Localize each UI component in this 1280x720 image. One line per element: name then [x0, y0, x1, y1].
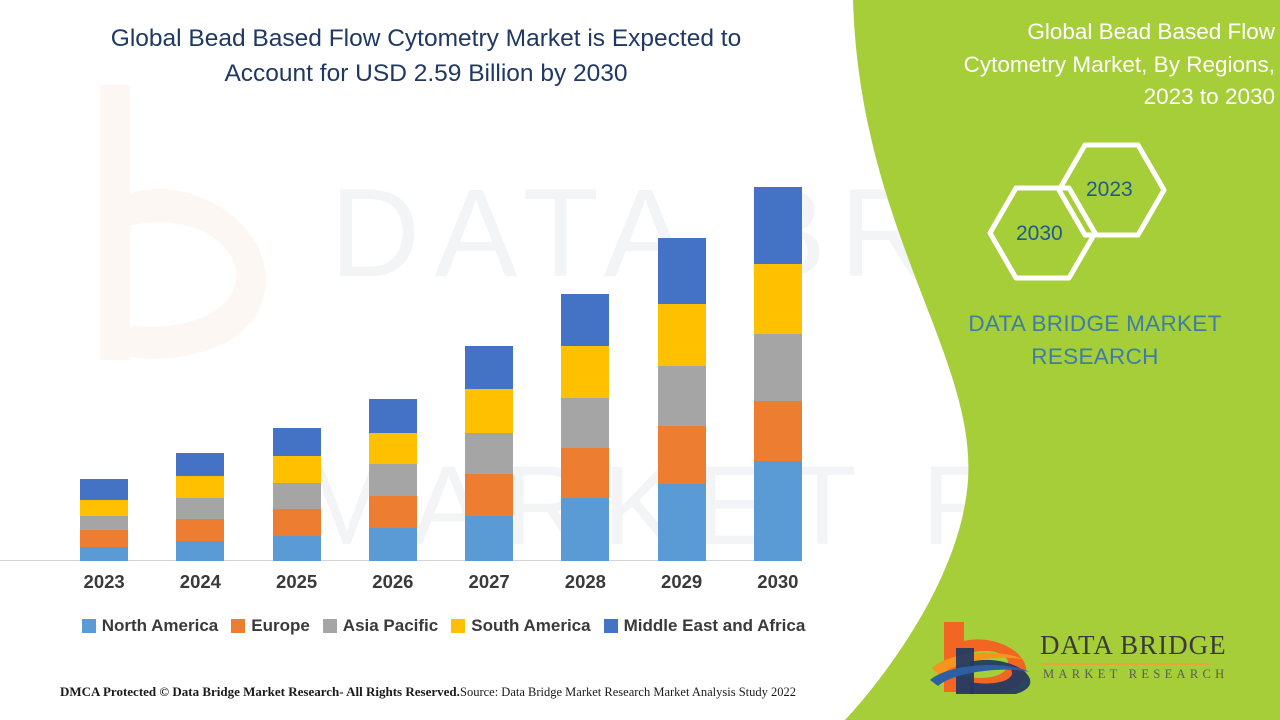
x-axis-label: 2023	[56, 571, 152, 593]
bar-segment	[658, 366, 706, 426]
bar-segment	[273, 428, 321, 456]
bar-segment	[561, 346, 609, 398]
bar-segment	[561, 294, 609, 346]
bar-segment	[80, 547, 128, 561]
bar-segment	[273, 483, 321, 509]
bar-segment	[754, 461, 802, 561]
legend-swatch-icon	[451, 619, 465, 633]
stacked-bar	[658, 238, 706, 561]
x-axis-label: 2028	[537, 571, 633, 593]
chart-x-axis-labels: 20232024202520262027202820292030	[56, 571, 826, 593]
footer-source: Source: Data Bridge Market Research Mark…	[460, 685, 796, 700]
legend-label: Asia Pacific	[343, 616, 438, 636]
stacked-bar	[273, 428, 321, 561]
footer-copyright: DMCA Protected © Data Bridge Market Rese…	[60, 684, 460, 700]
bar-segment	[754, 264, 802, 334]
legend-item[interactable]: Middle East and Africa	[604, 616, 806, 636]
bar-segment	[465, 433, 513, 474]
legend-swatch-icon	[323, 619, 337, 633]
bar-segment	[273, 509, 321, 536]
page-title: Global Bead Based Flow Cytometry Market …	[76, 22, 776, 92]
bar-segment	[80, 516, 128, 530]
stacked-bar	[465, 346, 513, 561]
company-logo: DATA BRIDGE MARKET RESEARCH	[930, 618, 1240, 696]
bar-segment	[561, 498, 609, 561]
legend-label: Europe	[251, 616, 310, 636]
x-axis-label: 2024	[152, 571, 248, 593]
legend-item[interactable]: Europe	[231, 616, 310, 636]
bar-segment	[273, 536, 321, 561]
bar-segment	[754, 334, 802, 401]
bar-segment	[465, 516, 513, 561]
bar-segment	[465, 389, 513, 433]
bar-segment	[465, 346, 513, 389]
logo-subtitle: MARKET RESEARCH	[1043, 667, 1228, 682]
bar-segment	[369, 433, 417, 464]
legend-label: North America	[102, 616, 219, 636]
stacked-bar	[561, 294, 609, 561]
bar-segment	[369, 496, 417, 528]
bar-segment	[176, 541, 224, 561]
bar-segment	[80, 479, 128, 500]
hexagon-label-2030: 2030	[1016, 222, 1063, 246]
hexagon-shapes-icon	[968, 140, 1228, 285]
bar-segment	[176, 453, 224, 476]
x-axis-label: 2026	[345, 571, 441, 593]
logo-title: DATA BRIDGE	[1040, 630, 1227, 661]
bar-column	[152, 151, 248, 561]
stacked-bar	[754, 187, 802, 561]
stacked-bar	[369, 399, 417, 561]
x-axis-label: 2029	[634, 571, 730, 593]
hexagon-group: 2023 2030	[968, 140, 1228, 285]
bar-segment	[176, 476, 224, 498]
stacked-bar	[176, 453, 224, 561]
bar-segment	[561, 448, 609, 498]
bar-segment	[658, 484, 706, 561]
legend-item[interactable]: Asia Pacific	[323, 616, 438, 636]
bar-segment	[80, 500, 128, 516]
bar-column	[345, 151, 441, 561]
legend-item[interactable]: North America	[82, 616, 219, 636]
bar-segment	[754, 401, 802, 461]
bar-column	[634, 151, 730, 561]
x-axis-label: 2025	[249, 571, 345, 593]
bar-segment	[273, 456, 321, 483]
bar-column	[249, 151, 345, 561]
logo-divider	[1041, 663, 1209, 665]
panel-title: Global Bead Based Flow Cytometry Market,…	[930, 16, 1275, 114]
legend-swatch-icon	[604, 619, 618, 633]
legend-swatch-icon	[82, 619, 96, 633]
b-logo-icon	[930, 618, 1040, 694]
stacked-bar	[80, 479, 128, 561]
x-axis-label: 2027	[441, 571, 537, 593]
bar-segment	[176, 498, 224, 519]
bar-column	[56, 151, 152, 561]
bar-segment	[369, 464, 417, 496]
bar-segment	[658, 304, 706, 366]
bar-segment	[369, 528, 417, 561]
bar-chart	[56, 150, 826, 561]
chart-legend: North AmericaEuropeAsia PacificSouth Ame…	[56, 616, 831, 636]
bar-column	[537, 151, 633, 561]
bar-segment	[658, 426, 706, 484]
bar-segment	[465, 474, 513, 516]
infographic-page: DATA BRIDGE MARKET RESEARCH Global Bead …	[0, 0, 1280, 720]
chart-plot-area	[56, 151, 826, 561]
panel-content: Global Bead Based Flow Cytometry Market,…	[930, 0, 1280, 720]
x-axis-label: 2030	[730, 571, 826, 593]
bar-column	[441, 151, 537, 561]
legend-label: Middle East and Africa	[624, 616, 806, 636]
hexagon-label-2023: 2023	[1086, 178, 1133, 202]
footer: DMCA Protected © Data Bridge Market Rese…	[0, 684, 860, 706]
bar-column	[730, 151, 826, 561]
legend-item[interactable]: South America	[451, 616, 590, 636]
bar-segment	[80, 530, 128, 547]
bar-segment	[754, 187, 802, 264]
bar-segment	[658, 238, 706, 304]
bar-segment	[561, 398, 609, 448]
bar-segment	[176, 519, 224, 541]
brand-name: DATA BRIDGE MARKET RESEARCH	[930, 308, 1260, 373]
legend-swatch-icon	[231, 619, 245, 633]
bar-segment	[369, 399, 417, 433]
legend-label: South America	[471, 616, 590, 636]
